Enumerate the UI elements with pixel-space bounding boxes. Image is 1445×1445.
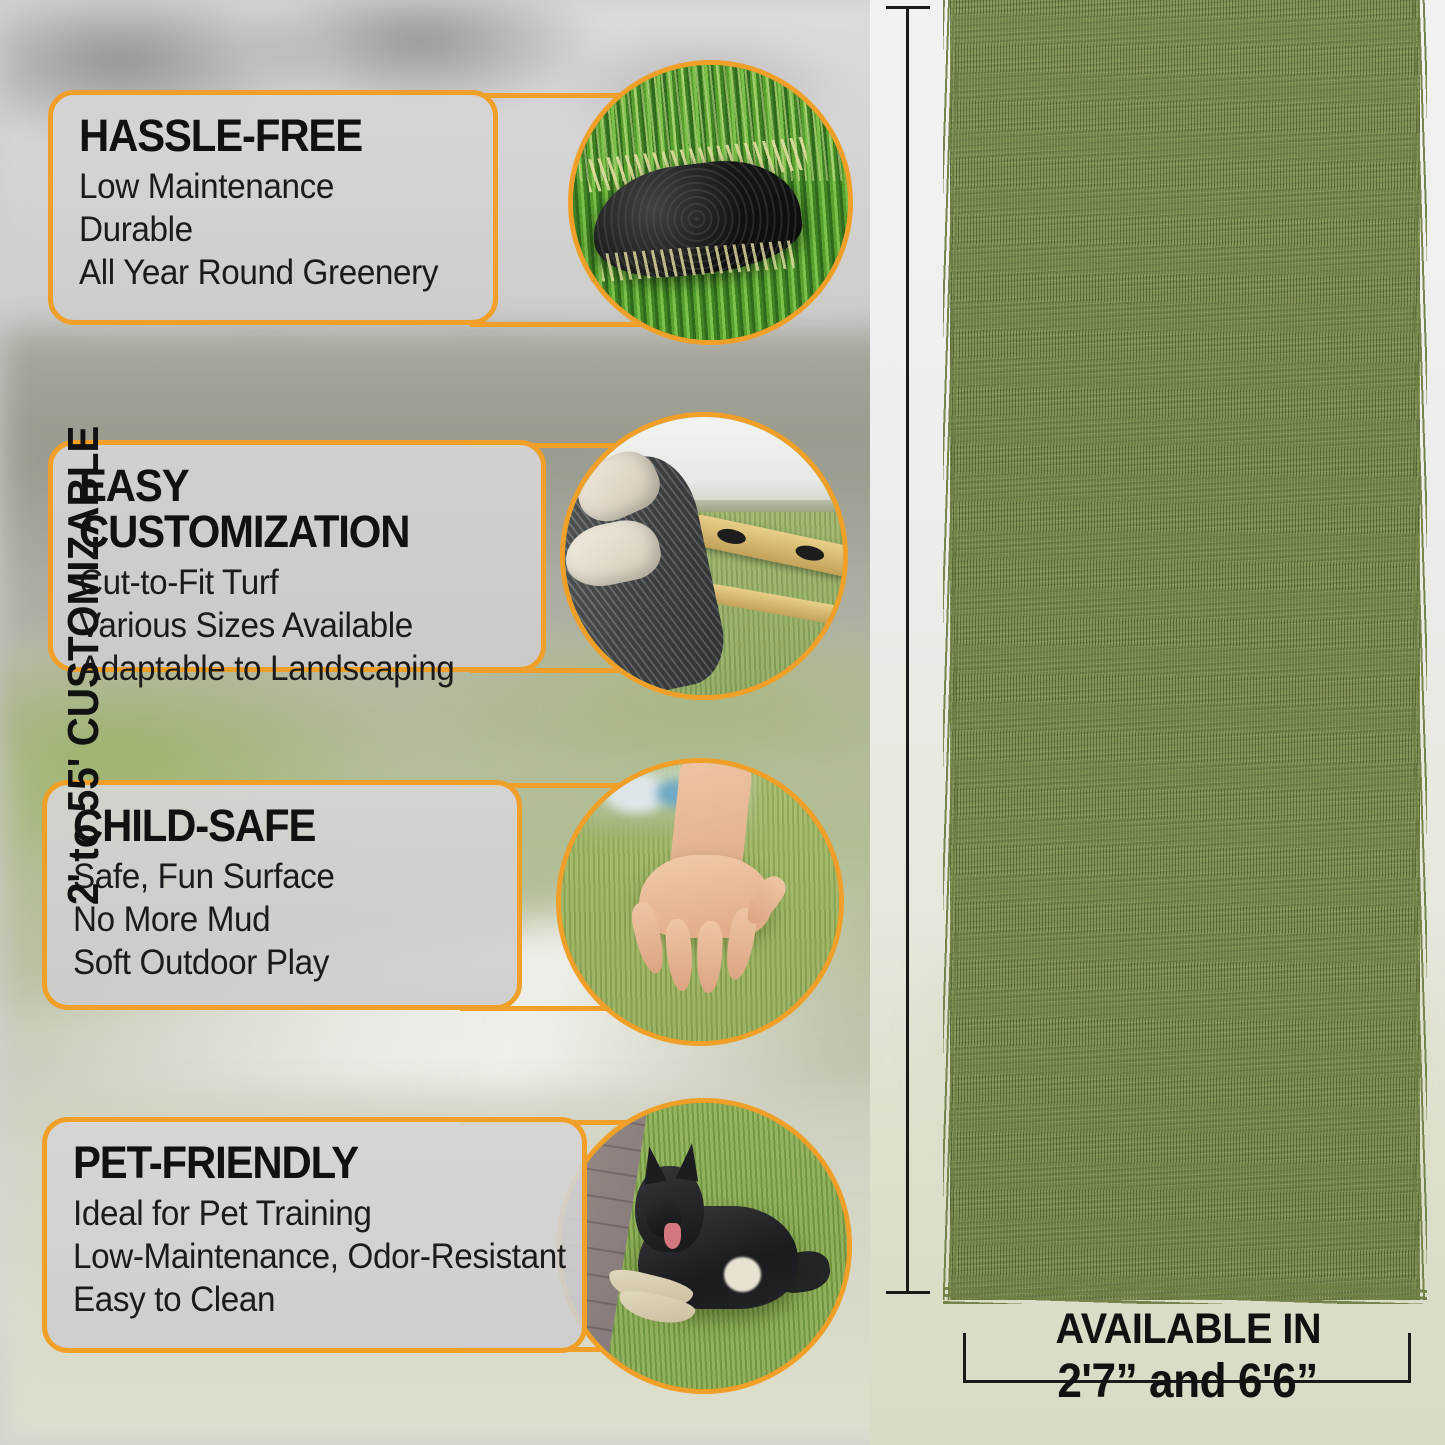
length-dimension-text: 2' to 55' CUSTOMIZABLE (59, 425, 109, 905)
feature-title-child-safe: CHILD-SAFE (73, 803, 462, 849)
feature-bullet: Soft Outdoor Play (73, 941, 470, 984)
length-dimension-tick-top (886, 6, 930, 9)
feature-bullet: Ideal for Pet Training (73, 1192, 532, 1235)
feature-bullet: Durable (79, 208, 448, 251)
feature-title-easy-customization: EASY CUSTOMIZATION (79, 463, 484, 555)
photo-child-safe (556, 758, 844, 1046)
photo-pet-friendly (556, 1098, 852, 1394)
feature-title-pet-friendly: PET-FRIENDLY (73, 1140, 522, 1186)
length-dimension-line (906, 6, 909, 1294)
feature-bullet: All Year Round Greenery (79, 251, 448, 294)
width-dimension-label: AVAILABLE IN 2'7” and 6'6” (963, 1308, 1413, 1407)
feature-bullet: Easy to Clean (73, 1278, 532, 1321)
photo-easy-customization (560, 412, 848, 700)
turf-roll-strip (950, 0, 1420, 1300)
feature-card-child-safe: CHILD-SAFE Safe, Fun Surface No More Mud… (42, 780, 522, 1010)
feature-bullets-child-safe: Safe, Fun Surface No More Mud Soft Outdo… (73, 855, 491, 984)
feature-bullets-hassle-free: Low Maintenance Durable All Year Round G… (79, 165, 467, 294)
feature-card-easy-customization: EASY CUSTOMIZATION Cut-to-Fit Turf Vario… (48, 440, 546, 672)
feature-bullets-easy-customization: Cut-to-Fit Turf Various Sizes Available … (79, 561, 515, 690)
feature-bullets-pet-friendly: Ideal for Pet Training Low-Maintenance, … (73, 1192, 556, 1321)
infographic-canvas: HASSLE-FREE Low Maintenance Durable All … (0, 0, 1445, 1445)
feature-bullet: Safe, Fun Surface (73, 855, 470, 898)
feature-bullet: Cut-to-Fit Turf (79, 561, 493, 604)
feature-bullet: Low-Maintenance, Odor-Resistant (73, 1235, 532, 1278)
length-dimension-tick-bottom (886, 1291, 930, 1294)
available-widths-value: 2'7” and 6'6” (1058, 1357, 1318, 1407)
feature-bullet: Various Sizes Available (79, 604, 493, 647)
feature-card-hassle-free: HASSLE-FREE Low Maintenance Durable All … (48, 90, 498, 325)
photo-hassle-free (568, 60, 853, 345)
feature-bullet: No More Mud (73, 898, 470, 941)
feature-card-pet-friendly: PET-FRIENDLY Ideal for Pet Training Low-… (42, 1117, 587, 1353)
available-in-heading: AVAILABLE IN (1055, 1308, 1321, 1351)
feature-bullet: Adaptable to Landscaping (79, 647, 493, 690)
feature-bullet: Low Maintenance (79, 165, 448, 208)
length-dimension-label: 2' to 55' CUSTOMIZABLE (59, 345, 109, 985)
turf-strip-bottom-edge (943, 1286, 1427, 1304)
feature-title-hassle-free: HASSLE-FREE (79, 113, 440, 159)
